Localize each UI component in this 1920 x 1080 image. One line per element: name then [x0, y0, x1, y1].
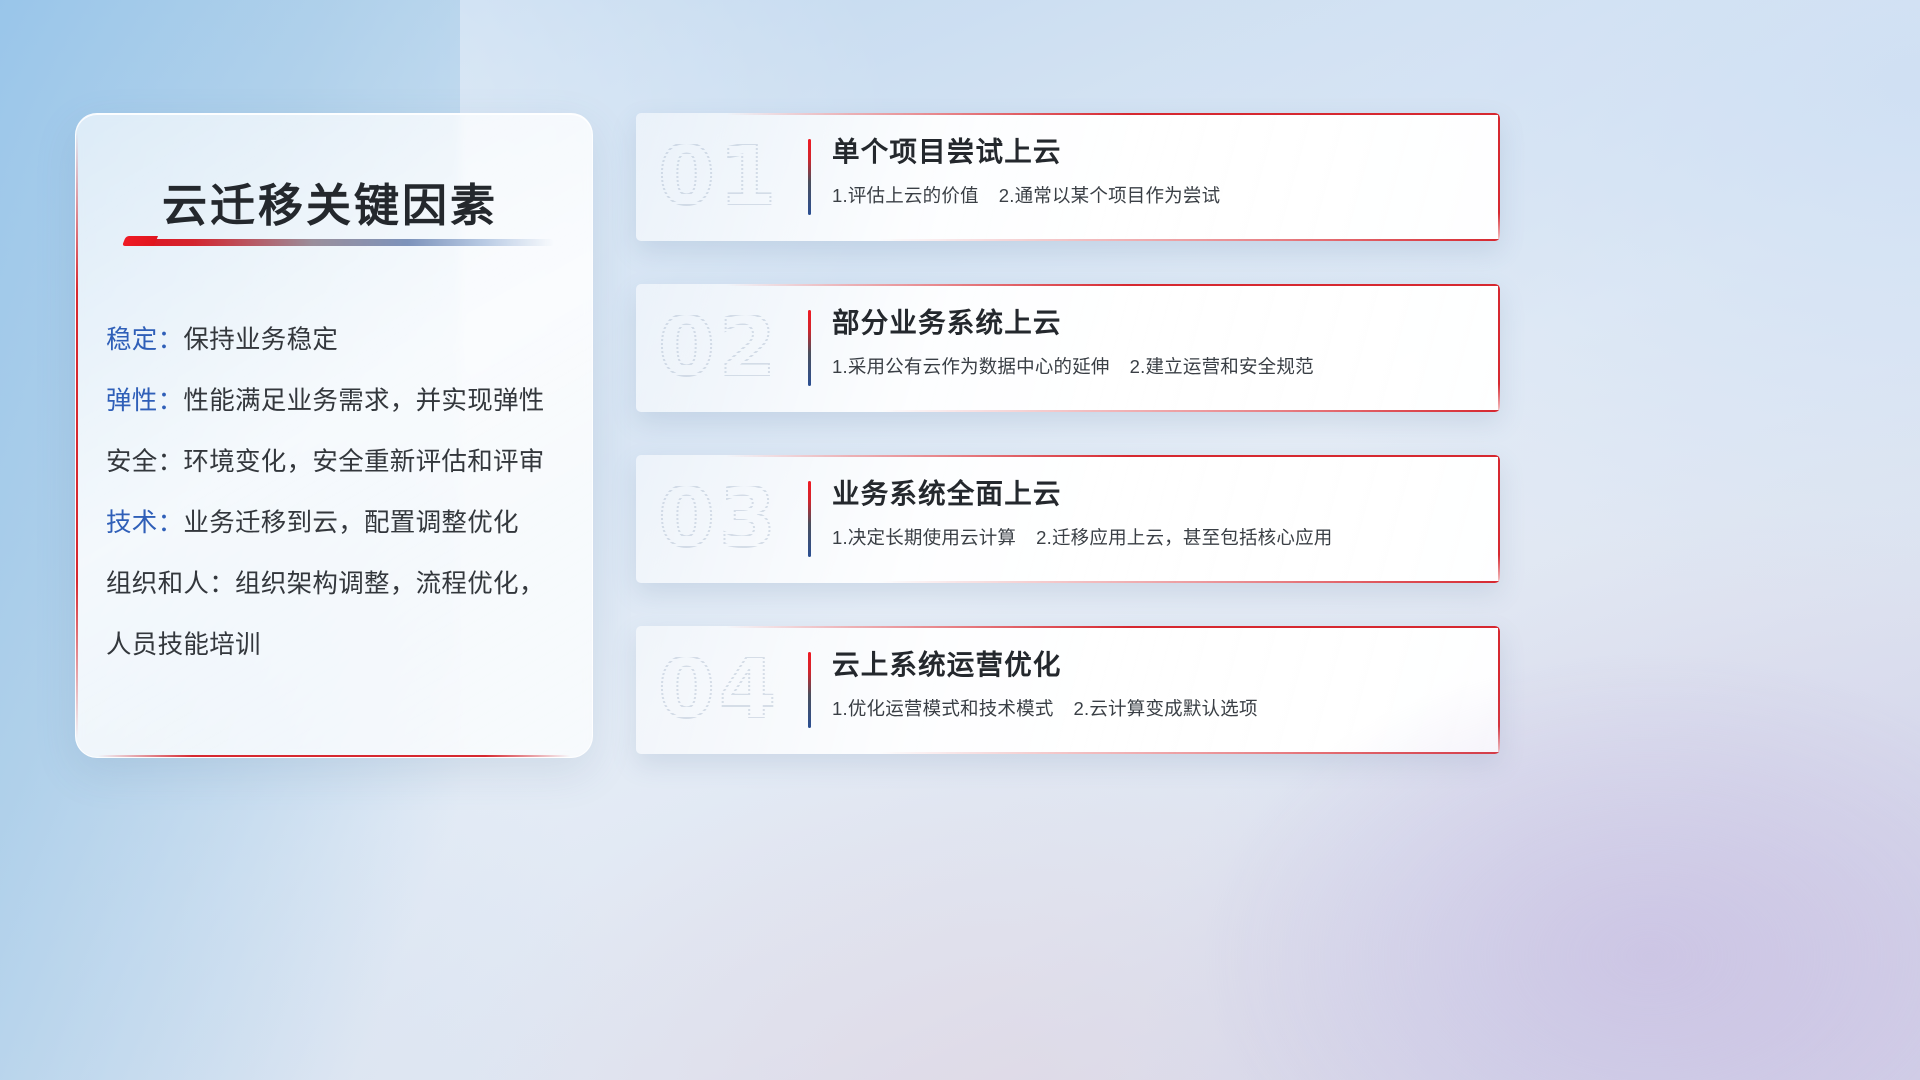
- card-accent-bar: [808, 652, 811, 728]
- factor-value: 性能满足业务需求，并实现弹性: [183, 387, 544, 415]
- card-body: 业务系统全面上云 1.决定长期使用云计算2.迁移应用上云，甚至包括核心应用: [832, 477, 1474, 550]
- list-item: 安全：环境变化，安全重新评估和评审: [106, 432, 572, 493]
- card-right-accent-line: [1498, 626, 1500, 754]
- factor-value: 组织架构调整，流程优化，: [235, 570, 545, 598]
- title-underline-rule: [124, 239, 554, 246]
- list-item: 人员技能培训: [106, 615, 572, 676]
- card-title: 业务系统全面上云: [832, 477, 1474, 511]
- card-accent-bar: [808, 481, 811, 557]
- card-point: 2.云计算变成默认选项: [1074, 698, 1258, 719]
- card-body: 单个项目尝试上云 1.评估上云的价值2.通常以某个项目作为尝试: [832, 135, 1474, 208]
- stage-number-watermark: 03: [658, 478, 780, 560]
- card-body: 云上系统运营优化 1.优化运营模式和技术模式2.云计算变成默认选项: [832, 648, 1474, 721]
- migration-stage-cards: 01 单个项目尝试上云 1.评估上云的价值2.通常以某个项目作为尝试 02 部分…: [636, 113, 1500, 754]
- stage-number-watermark: 04: [658, 649, 780, 731]
- card-point: 1.评估上云的价值: [832, 185, 979, 206]
- card-title: 部分业务系统上云: [832, 306, 1474, 340]
- card-top-accent-line: [726, 284, 1500, 286]
- card-right-accent-line: [1498, 455, 1500, 583]
- stage-card[interactable]: 03 业务系统全面上云 1.决定长期使用云计算2.迁移应用上云，甚至包括核心应用: [636, 455, 1500, 583]
- card-body: 部分业务系统上云 1.采用公有云作为数据中心的延伸2.建立运营和安全规范: [832, 306, 1474, 379]
- card-point: 1.优化运营模式和技术模式: [832, 698, 1054, 719]
- card-bottom-accent-line: [878, 581, 1500, 583]
- card-top-accent-line: [726, 113, 1500, 115]
- factor-value: 保持业务稳定: [183, 326, 338, 354]
- factor-key: 稳定：: [106, 326, 183, 354]
- factor-key: 技术：: [106, 509, 183, 537]
- stage-number-watermark: 02: [658, 307, 780, 389]
- card-point: 1.决定长期使用云计算: [832, 527, 1016, 548]
- card-point: 1.采用公有云作为数据中心的延伸: [832, 356, 1110, 377]
- stage-number-watermark: 01: [658, 136, 780, 218]
- list-item: 组织和人：组织架构调整，流程优化，: [106, 554, 572, 615]
- card-bottom-accent-line: [878, 410, 1500, 412]
- card-accent-bar: [808, 139, 811, 215]
- list-item: 稳定：保持业务稳定: [106, 310, 572, 371]
- card-bottom-accent-line: [878, 239, 1500, 241]
- card-point: 2.迁移应用上云，甚至包括核心应用: [1036, 527, 1332, 548]
- panel-bottom-accent-line: [98, 755, 570, 757]
- card-description: 1.采用公有云作为数据中心的延伸2.建立运营和安全规范: [832, 353, 1474, 379]
- card-right-accent-line: [1498, 113, 1500, 241]
- page-title: 云迁移关键因素: [162, 169, 498, 234]
- card-description: 1.优化运营模式和技术模式2.云计算变成默认选项: [832, 695, 1474, 721]
- stage-card[interactable]: 01 单个项目尝试上云 1.评估上云的价值2.通常以某个项目作为尝试: [636, 113, 1500, 241]
- stage-card[interactable]: 04 云上系统运营优化 1.优化运营模式和技术模式2.云计算变成默认选项: [636, 626, 1500, 754]
- card-point: 2.通常以某个项目作为尝试: [999, 185, 1221, 206]
- factor-key: 安全：: [106, 448, 183, 476]
- factor-value: 业务迁移到云，配置调整优化: [183, 509, 518, 537]
- card-description: 1.评估上云的价值2.通常以某个项目作为尝试: [832, 182, 1474, 208]
- key-factors-panel: 云迁移关键因素 稳定：保持业务稳定 弹性：性能满足业务需求，并实现弹性 安全：环…: [75, 113, 593, 758]
- list-item: 技术：业务迁移到云，配置调整优化: [106, 493, 572, 554]
- card-right-accent-line: [1498, 284, 1500, 412]
- card-title: 云上系统运营优化: [832, 648, 1474, 682]
- slide-canvas: 云迁移关键因素 稳定：保持业务稳定 弹性：性能满足业务需求，并实现弹性 安全：环…: [0, 0, 1920, 1080]
- card-point: 2.建立运营和安全规范: [1130, 356, 1314, 377]
- card-top-accent-line: [726, 455, 1500, 457]
- card-title: 单个项目尝试上云: [832, 135, 1474, 169]
- stage-card[interactable]: 02 部分业务系统上云 1.采用公有云作为数据中心的延伸2.建立运营和安全规范: [636, 284, 1500, 412]
- key-factors-list: 稳定：保持业务稳定 弹性：性能满足业务需求，并实现弹性 安全：环境变化，安全重新…: [106, 310, 572, 676]
- factor-key: 弹性：: [106, 387, 183, 415]
- factor-value: 人员技能培训: [106, 631, 261, 659]
- factor-value: 环境变化，安全重新评估和评审: [183, 448, 544, 476]
- factor-key: 组织和人：: [106, 570, 235, 598]
- card-accent-bar: [808, 310, 811, 386]
- list-item: 弹性：性能满足业务需求，并实现弹性: [106, 371, 572, 432]
- panel-left-accent-line: [76, 132, 78, 739]
- card-top-accent-line: [726, 626, 1500, 628]
- card-bottom-accent-line: [878, 752, 1500, 754]
- card-description: 1.决定长期使用云计算2.迁移应用上云，甚至包括核心应用: [832, 524, 1474, 550]
